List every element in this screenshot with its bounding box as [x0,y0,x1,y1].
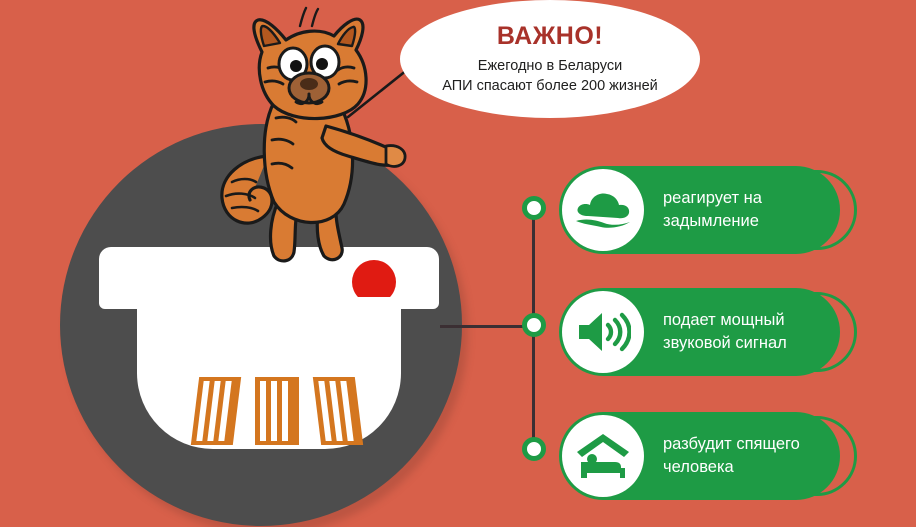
callout-title: ВАЖНО! [497,24,603,49]
connector-node-2 [522,313,546,337]
feature-line-2: звуковой сигнал [663,332,835,355]
feature-item-smoke[interactable]: реагирует на задымление [559,166,849,254]
feature-line-1: разбудит спящего [663,433,835,456]
important-callout-bubble: ВАЖНО! Ежегодно в Беларуси АПИ спасают б… [400,0,700,118]
connector-node-1 [522,196,546,220]
feature-line-1: реагирует на [663,187,835,210]
sleeping-person-bed-icon [562,415,644,497]
feature-text: разбудит спящего человека [663,412,835,500]
detector-vent-center [255,377,299,445]
detector-vent-right [313,377,363,445]
feature-line-2: человека [663,456,835,479]
infographic-poster: ВАЖНО! Ежегодно в Беларуси АПИ спасают б… [0,0,916,527]
smoke-cloud-icon [562,169,644,251]
feature-item-wake[interactable]: разбудит спящего человека [559,412,849,500]
connector-horizontal-line [440,325,535,328]
feature-item-sound[interactable]: подает мощный звуковой сигнал [559,288,849,376]
callout-line-2: АПИ спасают более 200 жизней [442,76,658,96]
feature-text: реагирует на задымление [663,166,835,254]
feature-line-2: задымление [663,210,835,233]
detector-vent-left [191,377,241,445]
loud-speaker-icon [562,291,644,373]
cat-mascot-icon [208,6,418,264]
feature-text: подает мощный звуковой сигнал [663,288,835,376]
connector-node-3 [522,437,546,461]
feature-line-1: подает мощный [663,309,835,332]
smoke-detector-illustration [99,247,439,453]
detector-body [137,297,401,449]
callout-line-1: Ежегодно в Беларуси [478,56,622,76]
